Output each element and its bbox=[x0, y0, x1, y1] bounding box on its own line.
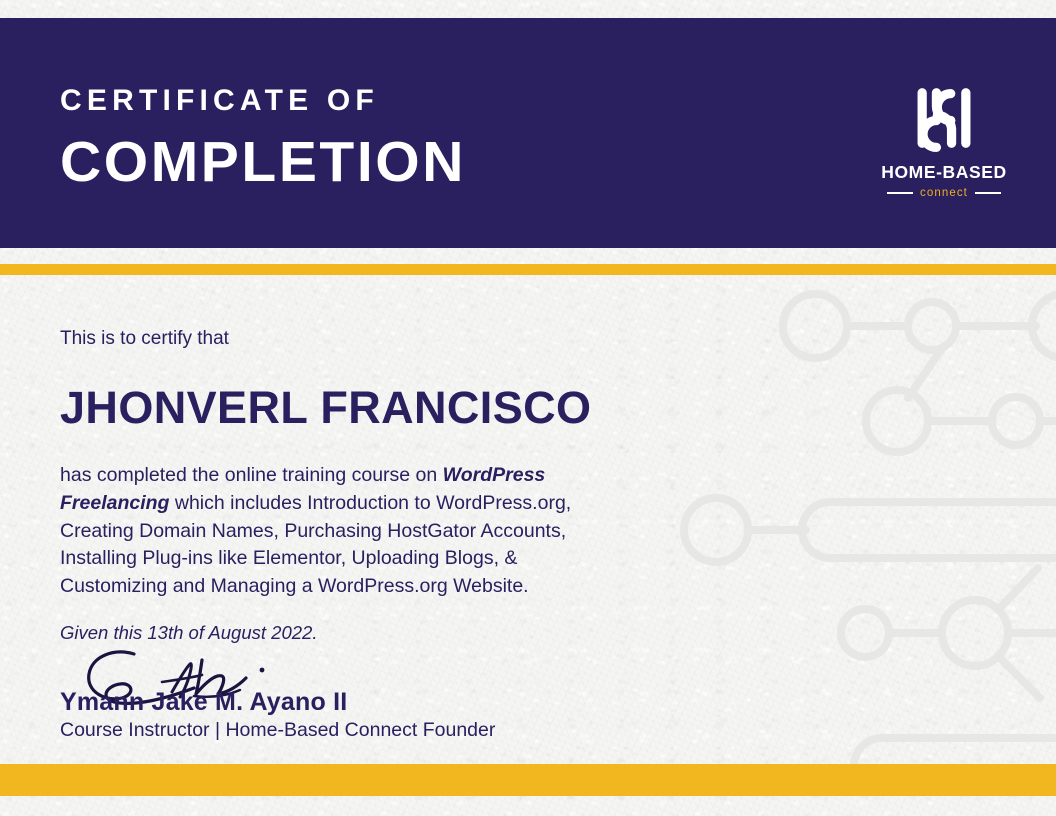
logo-subtext-row: connect bbox=[887, 187, 1001, 199]
page-title-line-1: CERTIFICATE OF bbox=[60, 86, 466, 116]
signature-area: Ymann Jake M. Ayano II bbox=[60, 646, 620, 708]
gold-divider-bottom bbox=[0, 764, 1056, 796]
page-title-line-2: COMPLETION bbox=[60, 134, 466, 191]
logo-subtext: connect bbox=[920, 187, 968, 199]
logo-rule-right bbox=[975, 192, 1001, 194]
signer-role: Course Instructor | Home-Based Connect F… bbox=[60, 719, 620, 742]
h-monogram-icon bbox=[902, 76, 986, 160]
certificate-title-block: CERTIFICATE OF COMPLETION bbox=[60, 86, 466, 191]
logo-rule-left bbox=[887, 192, 913, 194]
certificate: CERTIFICATE OF COMPLETION bbox=[0, 0, 1056, 816]
recipient-name: JHONVERL FRANCISCO bbox=[60, 385, 660, 430]
logo-wordmark: HOME-BASED bbox=[881, 162, 1007, 183]
signature-block: Given this 13th of August 2022. Ymann Ja… bbox=[60, 622, 620, 742]
given-date: Given this 13th of August 2022. bbox=[60, 622, 620, 644]
gold-divider-top bbox=[0, 264, 1056, 275]
description-before: has completed the online training course… bbox=[60, 464, 443, 486]
certify-line: This is to certify that bbox=[60, 328, 660, 351]
brand-logo: HOME-BASED connect bbox=[874, 76, 1014, 208]
header-band: CERTIFICATE OF COMPLETION bbox=[0, 18, 1056, 248]
certificate-body: This is to certify that JHONVERL FRANCIS… bbox=[60, 328, 660, 601]
signer-name: Ymann Jake M. Ayano II bbox=[60, 688, 347, 717]
course-description: has completed the online training course… bbox=[60, 462, 600, 601]
